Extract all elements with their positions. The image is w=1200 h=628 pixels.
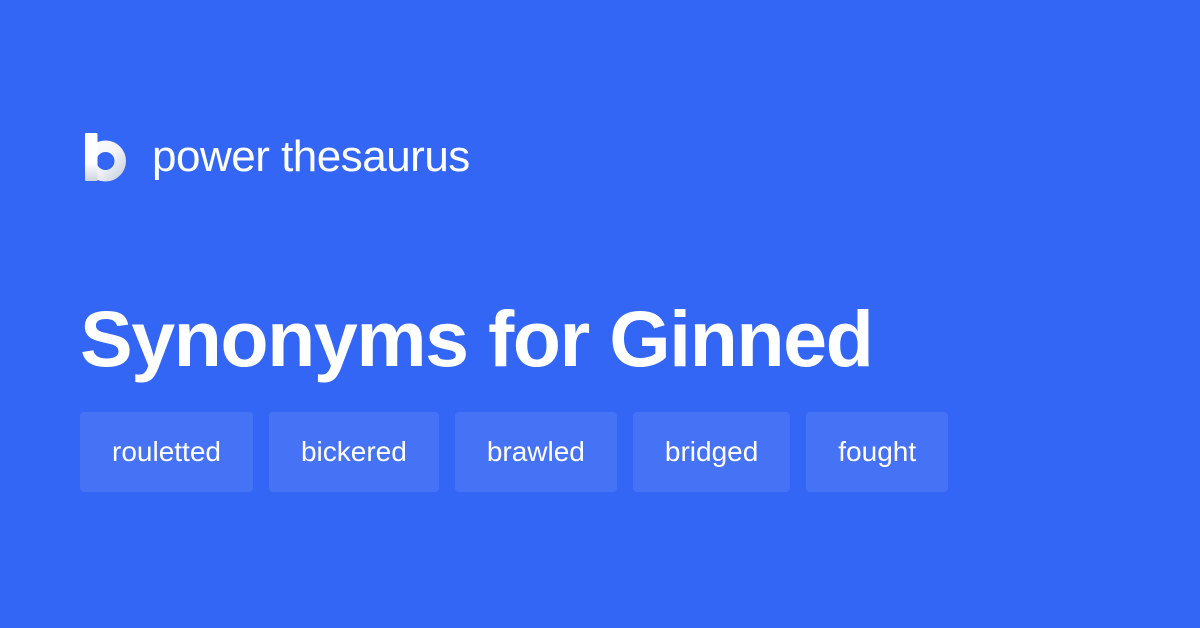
synonym-chip-list: roulettedbickeredbrawledbridgedfought bbox=[80, 412, 1140, 492]
synonym-chip[interactable]: fought bbox=[806, 412, 948, 492]
synonym-chip[interactable]: brawled bbox=[455, 412, 617, 492]
page-title: Synonyms for Ginned bbox=[80, 296, 1120, 383]
synonym-chip[interactable]: rouletted bbox=[80, 412, 253, 492]
brand-lockup[interactable]: power thesaurus bbox=[80, 128, 470, 186]
synonym-chip[interactable]: bridged bbox=[633, 412, 790, 492]
power-thesaurus-b-logo-icon bbox=[80, 131, 128, 183]
synonym-chip[interactable]: bickered bbox=[269, 412, 439, 492]
share-card: power thesaurus Synonyms for Ginned roul… bbox=[0, 0, 1200, 628]
brand-name: power thesaurus bbox=[152, 135, 470, 179]
